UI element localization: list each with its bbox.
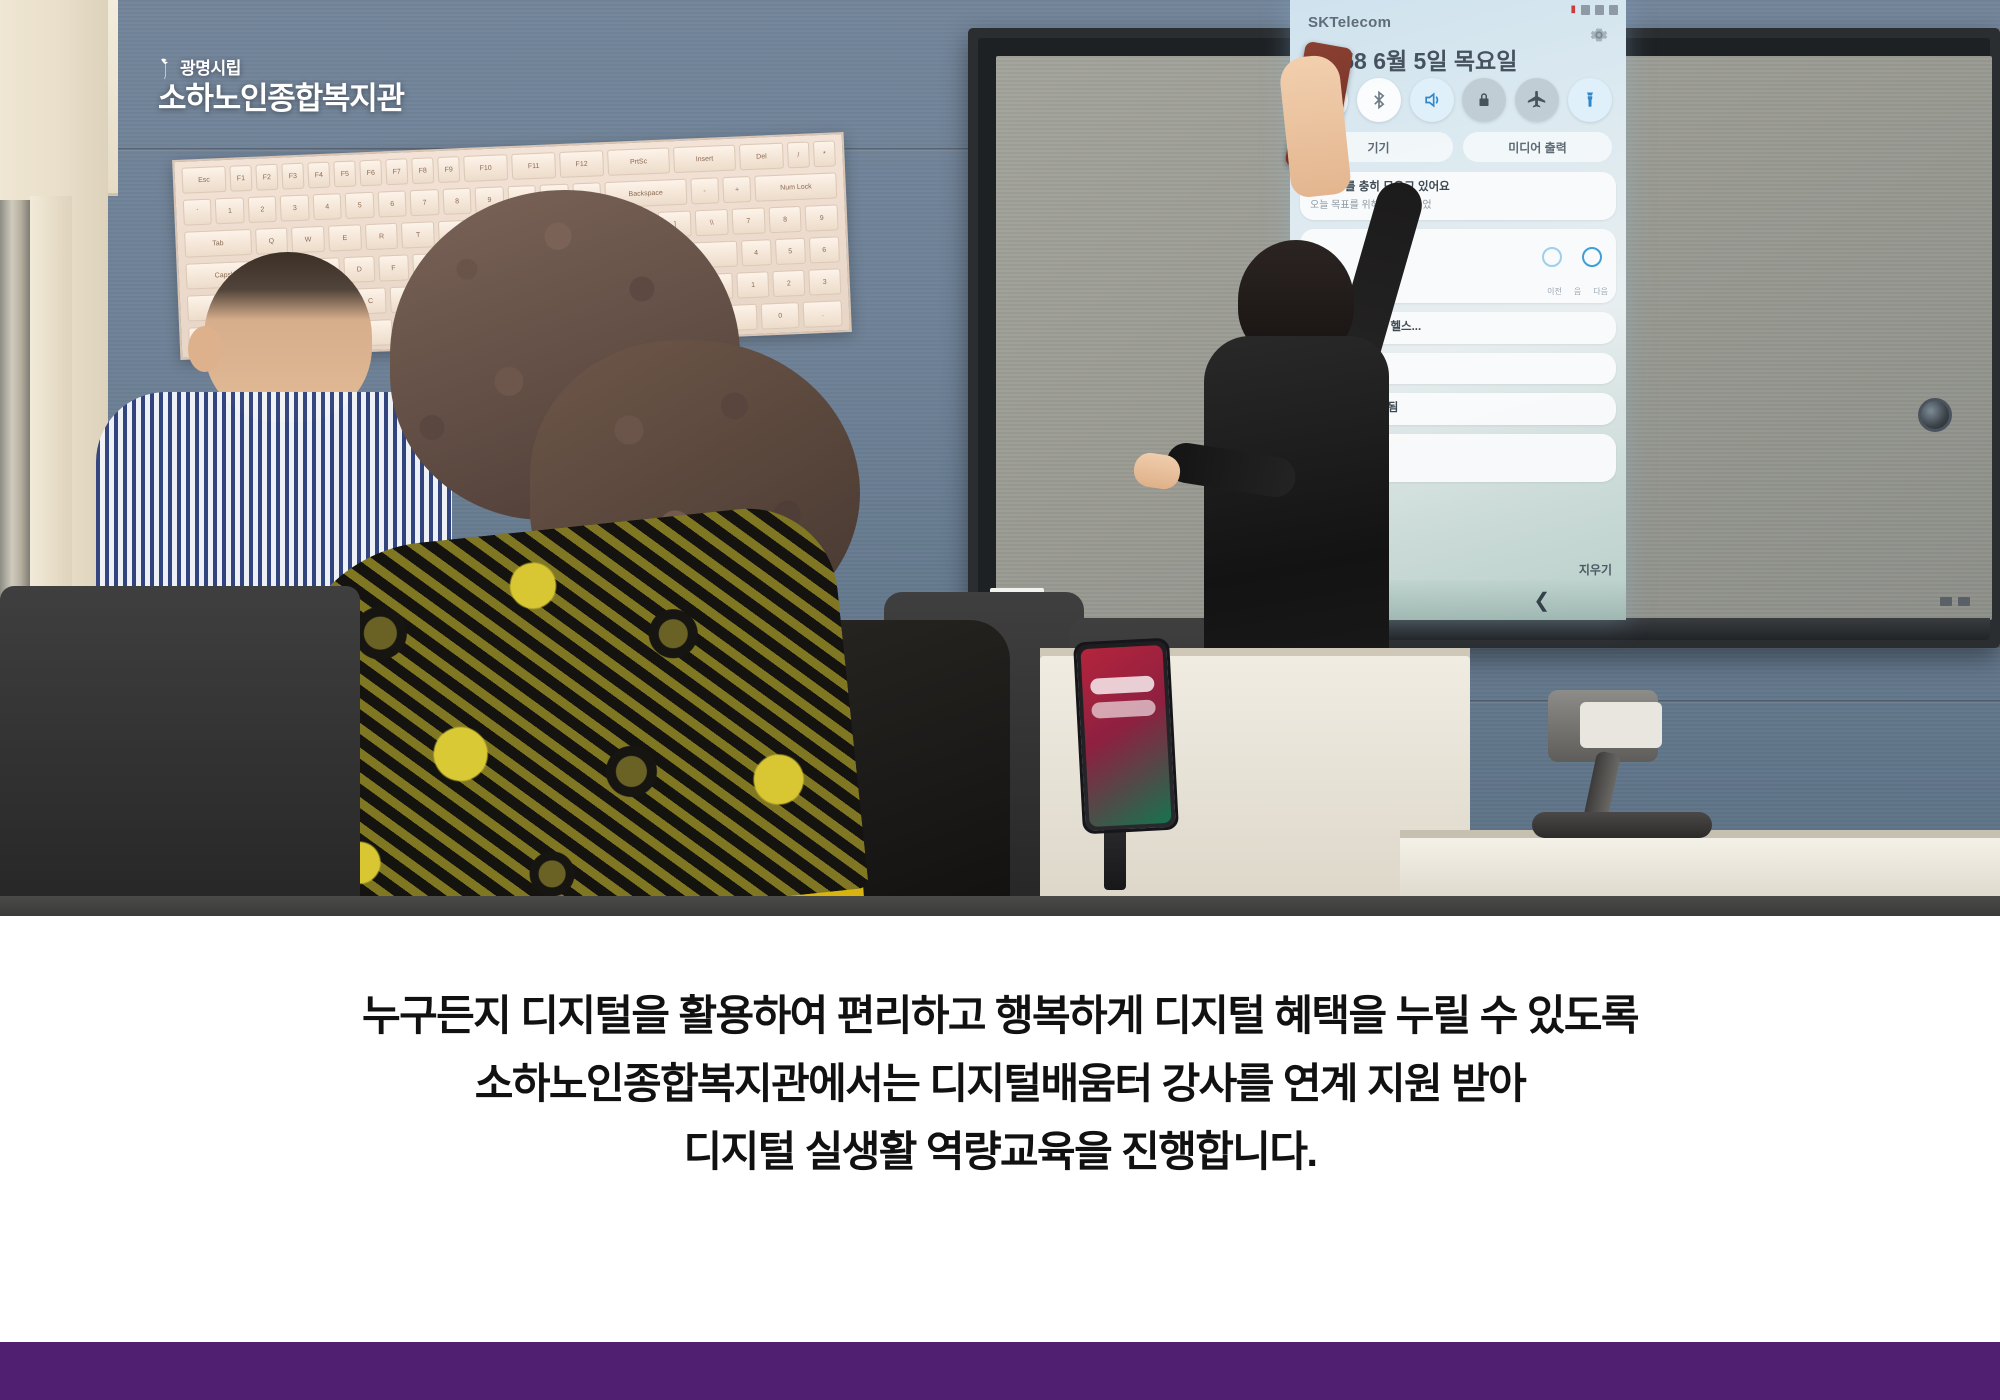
participant-ear (188, 326, 222, 372)
keyboard-key: W (291, 226, 325, 253)
quick-settings-row (1304, 78, 1612, 122)
alarm-icon: ▮ (1570, 4, 1576, 15)
bluetooth-icon (1581, 5, 1590, 15)
mounted-phone-banner (1091, 699, 1156, 718)
airplane-toggle[interactable] (1515, 78, 1559, 122)
airplane-icon (1526, 89, 1548, 111)
caption-line-3: 디지털 실생활 역량교육을 진행합니다. (684, 1118, 1317, 1186)
lock-rotation-icon (1475, 91, 1493, 109)
keyboard-key: F6 (359, 159, 382, 186)
keyboard-key: 2 (248, 196, 278, 223)
keyboard-key: F11 (511, 152, 556, 180)
notification-subtitle: 오늘 목표를 위해 얼마나 걸었 (1310, 199, 1606, 213)
keyboard-key: Insert (673, 145, 736, 174)
media-control-labels: 이전 음 다음 (1547, 286, 1608, 297)
keyboard-key: F4 (307, 162, 330, 189)
organization-logo: 광명시립 소하노인종합복지관 (158, 58, 404, 117)
display-sensor-icon (1918, 398, 1952, 432)
classroom-chair (0, 586, 360, 916)
keyboard-key: F12 (559, 150, 604, 178)
tablet-holder-inner (1580, 702, 1662, 748)
footer-accent-bar (0, 1342, 2000, 1400)
seated-participant-female (330, 190, 990, 916)
keyboard-key: * (813, 140, 836, 167)
media-label-mid: 음 (1574, 286, 1581, 297)
poster-page: EscF1F2F3F4F5F6F7F8F9F10F11F12PrtScInser… (0, 0, 2000, 1400)
tablet-holder-base (1532, 812, 1712, 838)
bluetooth-icon (1369, 90, 1389, 110)
rotation-lock-toggle[interactable] (1462, 78, 1506, 122)
phone-status-bar: ▮ (1570, 4, 1618, 15)
battery-icon (1609, 5, 1618, 15)
keyboard-key: Esc (181, 166, 226, 194)
photo-banner: EscF1F2F3F4F5F6F7F8F9F10F11F12PrtScInser… (0, 0, 2000, 916)
mounted-phone[interactable] (1073, 638, 1179, 835)
flashlight-toggle[interactable] (1568, 78, 1612, 122)
keyboard-key: PrtSc (607, 147, 670, 176)
logo-subtitle: 광명시립 (180, 60, 241, 77)
settings-gear-icon[interactable] (1588, 24, 1610, 46)
media-output-button[interactable]: 미디어 출력 (1463, 132, 1612, 162)
clear-notifications-button[interactable]: 지우기 (1579, 561, 1612, 578)
display-ports-icon (1940, 597, 1970, 606)
participant-floral-shawl (271, 500, 869, 916)
keyboard-key: F5 (333, 160, 356, 187)
logo-title: 소하노인종합복지관 (158, 82, 404, 117)
keyboard-key: Q (255, 227, 289, 254)
notification-title: 걸음 수를 충히 모으고 있어요 (1310, 180, 1606, 196)
keyboard-key: F7 (385, 158, 408, 185)
sound-icon (1422, 90, 1442, 110)
keyboard-key: 3 (280, 194, 310, 221)
sound-toggle[interactable] (1410, 78, 1454, 122)
floor-strip (0, 896, 2000, 916)
keyboard-key: Del (739, 143, 784, 171)
media-label-next: 다음 (1593, 286, 1608, 297)
keyboard-key: F9 (437, 156, 460, 183)
carrier-label: SKTelecom (1308, 14, 1391, 31)
caption-block: 누구든지 디지털을 활용하여 편리하고 행복하게 디지털 혜택을 누릴 수 있도… (0, 916, 2000, 1342)
media-label-prev: 이전 (1547, 286, 1562, 297)
mounted-phone-banner (1090, 675, 1155, 694)
signal-icon (1595, 5, 1604, 15)
keyboard-key: F2 (255, 164, 278, 191)
keyboard-key: F3 (281, 163, 304, 190)
keyboard-key: F8 (411, 157, 434, 184)
keyboard-key: F1 (229, 165, 252, 192)
mounted-phone-screen (1080, 645, 1171, 827)
bluetooth-toggle[interactable] (1357, 78, 1401, 122)
keyboard-key: F10 (463, 154, 508, 182)
caption-line-1: 누구든지 디지털을 활용하여 편리하고 행복하게 디지털 혜택을 누릴 수 있도… (362, 982, 1638, 1050)
flashlight-icon (1581, 91, 1599, 109)
media-controls[interactable] (1542, 247, 1602, 267)
torch-emblem-icon (158, 58, 175, 79)
keyboard-key: 1 (215, 197, 245, 224)
logo-top-row: 광명시립 (158, 58, 404, 79)
keyboard-key: ` (183, 199, 213, 226)
keyboard-key: / (787, 141, 810, 168)
tablet-holder (1530, 690, 1680, 850)
media-prev-icon[interactable] (1542, 247, 1562, 267)
back-chevron-icon[interactable]: ❮ (1533, 588, 1550, 613)
caption-line-2: 소하노인종합복지관에서는 디지털배움터 강사를 연계 지원 받아 (475, 1050, 1525, 1118)
quick-buttons-row: 기기 미디어 출력 (1304, 132, 1612, 162)
media-next-icon[interactable] (1582, 247, 1602, 267)
